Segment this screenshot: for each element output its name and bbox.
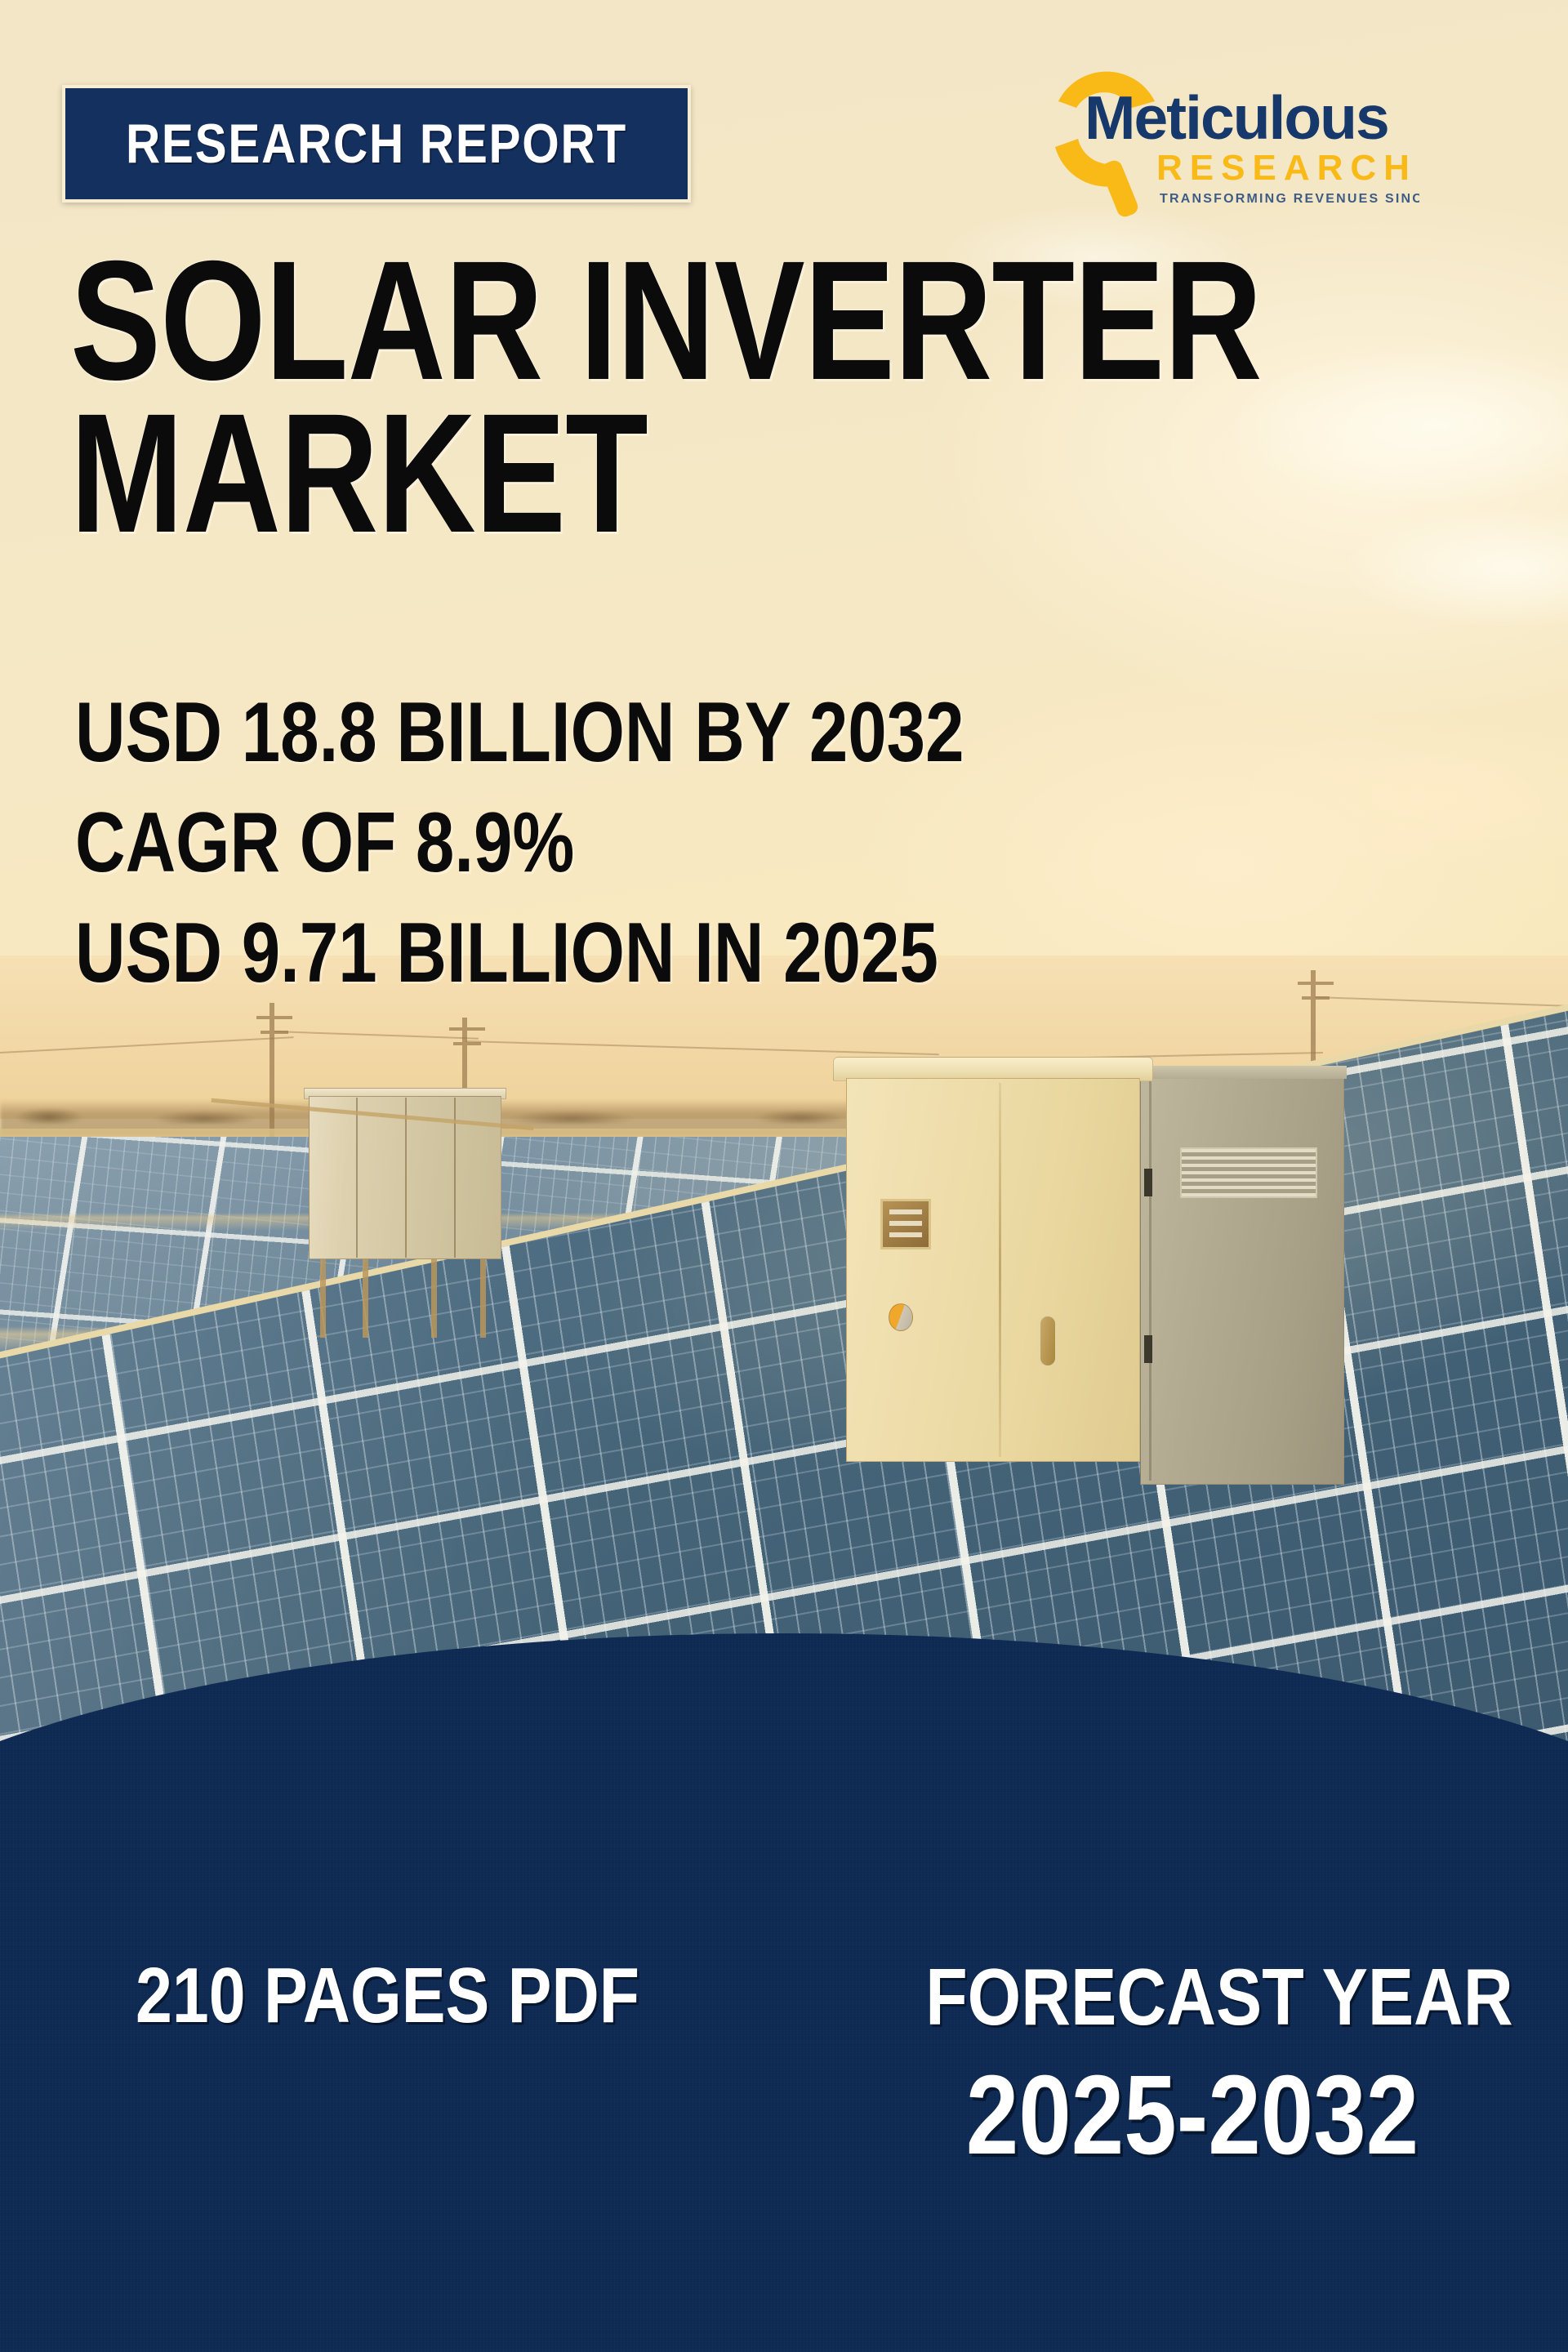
cabinet-door-seam — [405, 1098, 407, 1258]
research-report-badge: RESEARCH REPORT — [62, 85, 691, 203]
display-meter-window — [880, 1199, 931, 1249]
highlight-market-size-2032: USD 18.8 BILLION BY 2032 — [75, 678, 964, 788]
forecast-year-range: 2025-2032 — [932, 2058, 1453, 2173]
cabinet-doors — [846, 1078, 1140, 1462]
cabinet-door-seam — [356, 1098, 358, 1258]
title-line-1: SOLAR INVERTER — [70, 245, 1220, 398]
logo-wordmark-primary: Meticulous — [1085, 83, 1388, 152]
enclosure-roof — [1138, 1066, 1347, 1079]
elevated-inverter-cabinet — [309, 1096, 501, 1259]
title-line-2: MARKET — [70, 398, 1220, 550]
forecast-year-block: FORECAST YEAR 2025-2032 — [882, 1957, 1503, 2173]
forecast-year-label: FORECAST YEAR — [925, 1957, 1459, 2037]
door-handle — [1039, 1315, 1057, 1367]
inverter-enclosure-grey — [1140, 1076, 1344, 1485]
enclosure-hinge — [1144, 1335, 1152, 1363]
page-count-label: 210 PAGES PDF — [136, 1957, 639, 2035]
page-title: SOLAR INVERTER MARKET — [70, 245, 1508, 550]
badge-label: RESEARCH REPORT — [126, 112, 627, 176]
market-highlights: USD 18.8 BILLION BY 2032 CAGR OF 8.9% US… — [75, 678, 1159, 1009]
highlight-market-size-2025: USD 9.71 BILLION IN 2025 — [75, 898, 964, 1009]
report-cover-poster: RESEARCH REPORT Meticulous RESEARCH TRAN… — [0, 0, 1568, 2352]
enclosure-hinge — [1144, 1169, 1152, 1196]
logo-tagline: TRANSFORMING REVENUES SINCE 2010 — [1160, 192, 1419, 206]
meticulous-research-logo[interactable]: Meticulous RESEARCH TRANSFORMING REVENUE… — [1036, 51, 1419, 222]
logo-wordmark-secondary: RESEARCH — [1156, 148, 1417, 188]
enclosure-seam — [1149, 1080, 1151, 1481]
highlight-cagr: CAGR OF 8.9% — [75, 788, 964, 898]
main-inverter-cabinet — [846, 1078, 1140, 1462]
cabinet-support-legs — [317, 1259, 493, 1338]
rotary-switch-knob — [889, 1303, 913, 1331]
ventilation-louver-icon — [1180, 1147, 1317, 1198]
cabinet-door-seam — [999, 1083, 1001, 1457]
